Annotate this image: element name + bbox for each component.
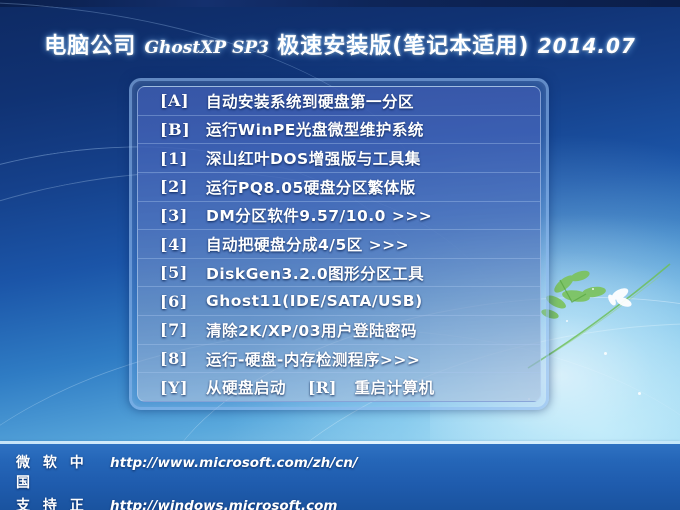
genuine-label: 支 持 正 版 <box>16 495 102 510</box>
menu-label: 自动把硬盘分成4/5区 >>> <box>206 233 409 255</box>
menu-key-y: [Y] <box>160 378 206 397</box>
sparkle <box>604 352 607 355</box>
menu-label: 运行WinPE光盘微型维护系统 <box>206 118 424 140</box>
top-strip <box>0 0 680 7</box>
microsoft-cn-label: 微 软 中 国 <box>16 452 102 492</box>
genuine-url[interactable]: http://windows.microsoft.com <box>110 498 337 510</box>
microsoft-links: 微 软 中 国 http://www.microsoft.com/zh/cn/ … <box>16 452 358 510</box>
menu-item-7[interactable]: [7] 清除2K/XP/03用户登陆密码 <box>138 316 540 345</box>
menu-key: [B] <box>160 120 206 139</box>
menu-item-b[interactable]: [B] 运行WinPE光盘微型维护系统 <box>138 116 540 145</box>
menu-key: [5] <box>160 263 206 282</box>
menu-key: [2] <box>160 177 206 196</box>
menu-label: 运行PQ8.05硬盘分区繁体版 <box>206 176 416 198</box>
menu-label: 清除2K/XP/03用户登陆密码 <box>206 319 417 341</box>
boot-menu-screen: 电脑公司 GhostXP SP3 极速安装版(笔记本适用) 2014.07 [A… <box>0 0 680 510</box>
menu-key: [3] <box>160 206 206 225</box>
menu-key-r: [R] <box>308 378 336 397</box>
sparkle <box>566 320 568 322</box>
page-title: 电脑公司 GhostXP SP3 极速安装版(笔记本适用) 2014.07 <box>0 28 680 60</box>
title-edition: GhostXP SP3 <box>145 38 269 58</box>
title-version: 2014.07 <box>538 34 636 58</box>
title-variant: 极速安装版(笔记本适用) <box>277 34 529 59</box>
menu-label: 运行-硬盘-内存检测程序>>> <box>206 348 420 370</box>
menu-item-6[interactable]: [6] Ghost11(IDE/SATA/USB) <box>138 287 540 316</box>
boot-menu-panel: [A] 自动安装系统到硬盘第一分区 [B] 运行WinPE光盘微型维护系统 [1… <box>129 78 549 410</box>
menu-item-3[interactable]: [3] DM分区软件9.57/10.0 >>> <box>138 202 540 231</box>
menu-item-a[interactable]: [A] 自动安装系统到硬盘第一分区 <box>138 87 540 116</box>
menu-label-restart: 重启计算机 <box>354 376 434 398</box>
sparkle <box>638 392 641 395</box>
footer-bar: 微 软 中 国 http://www.microsoft.com/zh/cn/ … <box>0 444 680 510</box>
menu-item-1[interactable]: [1] 深山红叶DOS增强版与工具集 <box>138 144 540 173</box>
menu-key: [6] <box>160 292 206 311</box>
microsoft-cn-line: 微 软 中 国 http://www.microsoft.com/zh/cn/ <box>16 452 358 492</box>
menu-item-8[interactable]: [8] 运行-硬盘-内存检测程序>>> <box>138 345 540 374</box>
menu-label: Ghost11(IDE/SATA/USB) <box>206 292 423 310</box>
menu-label: DM分区软件9.57/10.0 >>> <box>206 204 432 226</box>
genuine-line: 支 持 正 版 http://windows.microsoft.com <box>16 495 358 510</box>
title-company: 电脑公司 <box>44 34 136 59</box>
sparkle <box>592 288 594 290</box>
menu-label: DiskGen3.2.0图形分区工具 <box>206 262 424 284</box>
menu-item-4[interactable]: [4] 自动把硬盘分成4/5区 >>> <box>138 230 540 259</box>
menu-label: 自动安装系统到硬盘第一分区 <box>206 90 414 112</box>
menu-item-5[interactable]: [5] DiskGen3.2.0图形分区工具 <box>138 259 540 288</box>
menu-label-boot-hdd: 从硬盘启动 <box>206 376 286 398</box>
menu-key: [A] <box>160 91 206 110</box>
menu-key: [4] <box>160 235 206 254</box>
menu-key: [7] <box>160 320 206 339</box>
menu-item-y-r[interactable]: [Y] 从硬盘启动 [R] 重启计算机 <box>138 373 540 401</box>
menu-label: 深山红叶DOS增强版与工具集 <box>206 147 421 169</box>
menu-key: [1] <box>160 149 206 168</box>
microsoft-cn-url[interactable]: http://www.microsoft.com/zh/cn/ <box>110 455 358 471</box>
menu-key: [8] <box>160 349 206 368</box>
menu-item-2[interactable]: [2] 运行PQ8.05硬盘分区繁体版 <box>138 173 540 202</box>
boot-menu-list: [A] 自动安装系统到硬盘第一分区 [B] 运行WinPE光盘微型维护系统 [1… <box>137 86 541 402</box>
